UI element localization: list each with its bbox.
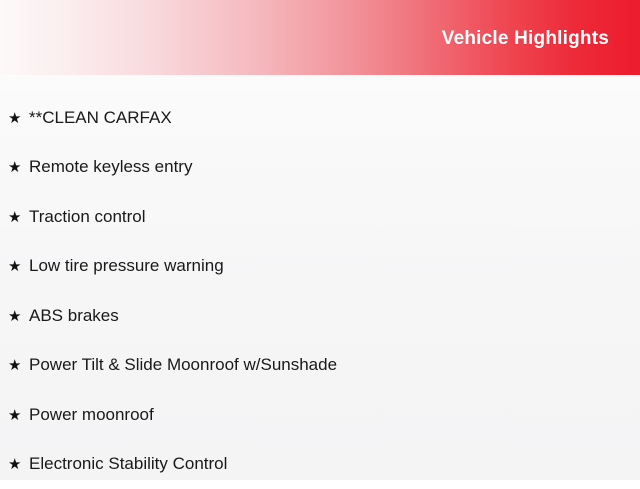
list-item-label: Power Tilt & Slide Moonroof w/Sunshade (29, 355, 337, 375)
list-item: ★ ABS brakes (0, 291, 640, 341)
star-bullet-icon: ★ (8, 407, 29, 423)
list-item: ★ **CLEAN CARFAX (0, 93, 640, 143)
star-bullet-icon: ★ (8, 159, 29, 175)
list-item: ★ Electronic Stability Control (0, 440, 640, 489)
star-bullet-icon: ★ (8, 209, 29, 225)
star-bullet-icon: ★ (8, 357, 29, 373)
list-item: ★ Power Tilt & Slide Moonroof w/Sunshade (0, 341, 640, 391)
list-item-label: ABS brakes (29, 306, 119, 326)
list-item-label: Traction control (29, 207, 146, 227)
list-item-label: Power moonroof (29, 405, 154, 425)
star-bullet-icon: ★ (8, 456, 29, 472)
list-item: ★ Traction control (0, 192, 640, 242)
list-item-label: Low tire pressure warning (29, 256, 224, 276)
star-bullet-icon: ★ (8, 258, 29, 274)
header-banner: Vehicle Highlights (0, 0, 640, 75)
vehicle-highlights-panel: Vehicle Highlights ★ **CLEAN CARFAX ★ Re… (0, 0, 640, 480)
list-item-label: Electronic Stability Control (29, 454, 227, 474)
list-item: ★ Power moonroof (0, 390, 640, 440)
star-bullet-icon: ★ (8, 110, 29, 126)
page-title: Vehicle Highlights (442, 26, 640, 50)
list-item: ★ Low tire pressure warning (0, 242, 640, 292)
list-item: ★ Remote keyless entry (0, 143, 640, 193)
highlights-list: ★ **CLEAN CARFAX ★ Remote keyless entry … (0, 75, 640, 489)
star-bullet-icon: ★ (8, 308, 29, 324)
list-item-label: **CLEAN CARFAX (29, 108, 172, 128)
list-item-label: Remote keyless entry (29, 157, 192, 177)
